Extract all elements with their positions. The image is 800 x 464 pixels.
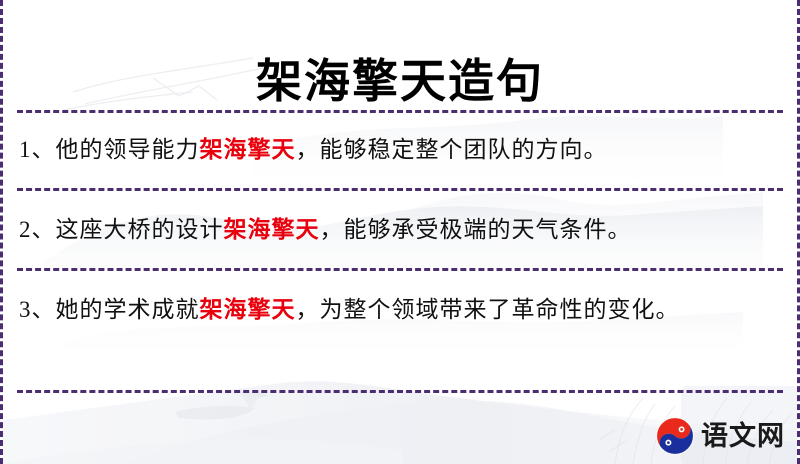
sentence-index-2: 2、 — [19, 217, 56, 242]
site-logo[interactable]: 语文网 — [655, 416, 785, 456]
divider-1 — [17, 188, 783, 191]
example-sentence-3: 3、她的学术成就架海擎天，为整个领域带来了革命性的变化。 — [19, 290, 775, 330]
site-logo-text: 语文网 — [701, 421, 785, 451]
page-content: 架海擎天造句 1、他的领导能力架海擎天，能够稳定整个团队的方向。 2、这座大桥的… — [3, 0, 797, 464]
example-sentence-1: 1、他的领导能力架海擎天，能够稳定整个团队的方向。 — [19, 130, 775, 170]
yinyang-fish-icon — [655, 416, 695, 456]
divider-bottom — [17, 390, 783, 393]
divider-2 — [17, 268, 783, 271]
divider-top — [17, 110, 783, 113]
page-root: 架海擎天造句 1、他的领导能力架海擎天，能够稳定整个团队的方向。 2、这座大桥的… — [0, 0, 800, 464]
keyword-highlight-1: 架海擎天 — [200, 137, 296, 162]
keyword-highlight-3: 架海擎天 — [200, 297, 296, 322]
sentence-text-before-1: 他的领导能力 — [56, 137, 200, 162]
sentence-text-after-1: ，能够稳定整个团队的方向。 — [296, 137, 608, 162]
page-title: 架海擎天造句 — [3, 53, 797, 111]
sentence-index-1: 1、 — [19, 137, 56, 162]
example-sentence-2: 2、这座大桥的设计架海擎天，能够承受极端的天气条件。 — [19, 210, 775, 250]
keyword-highlight-2: 架海擎天 — [224, 217, 320, 242]
sentence-text-before-2: 这座大桥的设计 — [56, 217, 224, 242]
sentence-text-after-3: ，为整个领域带来了革命性的变化。 — [296, 297, 680, 322]
sentence-index-3: 3、 — [19, 297, 56, 322]
sentence-text-before-3: 她的学术成就 — [56, 297, 200, 322]
sentence-text-after-2: ，能够承受极端的天气条件。 — [320, 217, 632, 242]
